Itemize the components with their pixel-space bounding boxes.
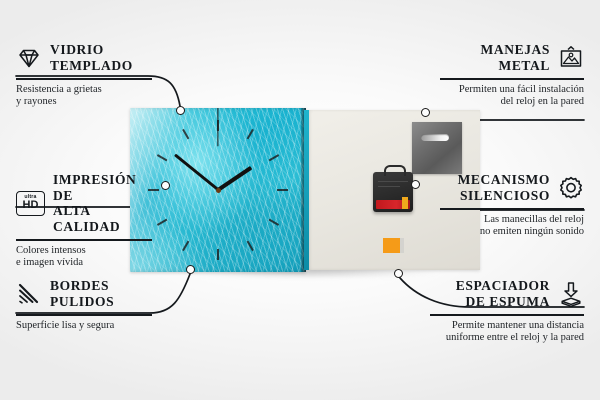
- mechanism-loop: [384, 165, 406, 176]
- feature-vidrio-templado: VIDRIO TEMPLADO Resistencia a grietas y …: [16, 42, 152, 109]
- callout-dot-mid-left: [161, 181, 170, 190]
- diamond-icon: [16, 45, 42, 71]
- ultra-hd-icon-main-label: HD: [23, 200, 39, 211]
- feature-description: Colores intensos e imagen vívida: [16, 245, 152, 270]
- callout-dot-bottom-right: [394, 269, 403, 278]
- feature-description: Superficie lisa y segura: [16, 320, 152, 333]
- feature-bordes-pulidos: BORDES PULIDOS Superficie lisa y segura: [16, 278, 152, 332]
- callout-dot-mid-right: [411, 180, 420, 189]
- ultra-hd-icon: ultra HD: [16, 191, 45, 216]
- wall-mount-frame-icon: [558, 45, 584, 71]
- feature-rule: [16, 78, 152, 80]
- product-photo: [130, 108, 480, 276]
- foam-spacer: [383, 238, 400, 253]
- feature-title: ESPACIADOR DE ESPUMA: [456, 278, 550, 309]
- feature-rule: [440, 78, 584, 80]
- foam-spacer-arrow-icon: [558, 281, 584, 307]
- feature-description: Permiten una fácil instalación del reloj…: [440, 84, 584, 109]
- battery: [376, 200, 410, 209]
- clock-front-face: [130, 108, 306, 272]
- callout-dot-top-right: [421, 108, 430, 117]
- feature-title: MANEJAS METAL: [481, 42, 550, 73]
- clock-mechanism: [373, 172, 413, 212]
- panel-teal-edge: [304, 110, 309, 270]
- feature-mecanismo-silencioso: MECANISMO SILENCIOSO Las manecillas del …: [440, 172, 584, 239]
- clock-pivot: [216, 188, 221, 193]
- callout-dot-top-left: [176, 106, 185, 115]
- hanger-slot: [421, 134, 449, 141]
- mechanism-detail-line: [378, 181, 408, 182]
- feature-title: VIDRIO TEMPLADO: [50, 42, 133, 73]
- feature-description: Las manecillas del reloj no emiten ningú…: [440, 214, 584, 239]
- gear-icon: [558, 175, 584, 201]
- feature-description: Permite mantener una distancia uniforme …: [430, 320, 584, 345]
- feature-espaciador-espuma: ESPACIADOR DE ESPUMA Permite mantener un…: [430, 278, 584, 345]
- feature-manejas-metal: MANEJAS METAL Permiten una fácil instala…: [440, 42, 584, 109]
- feature-rule: [16, 239, 152, 241]
- feature-rule: [430, 314, 584, 316]
- feature-rule: [16, 314, 152, 316]
- callout-dot-bottom-left: [186, 265, 195, 274]
- feature-rule: [440, 208, 584, 210]
- feature-title: IMPRESIÓN DE ALTA CALIDAD: [53, 172, 152, 234]
- infographic-stage: VIDRIO TEMPLADO Resistencia a grietas y …: [0, 0, 600, 400]
- feature-description: Resistencia a grietas y rayones: [16, 84, 152, 109]
- feature-title: MECANISMO SILENCIOSO: [458, 172, 550, 203]
- feature-impresion-alta-calidad: ultra HD IMPRESIÓN DE ALTA CALIDAD Color…: [16, 172, 152, 270]
- feature-title: BORDES PULIDOS: [50, 278, 114, 309]
- polished-edge-icon: [16, 281, 42, 307]
- mechanism-detail-line-2: [378, 186, 400, 187]
- metal-hanger-plate: [412, 122, 462, 174]
